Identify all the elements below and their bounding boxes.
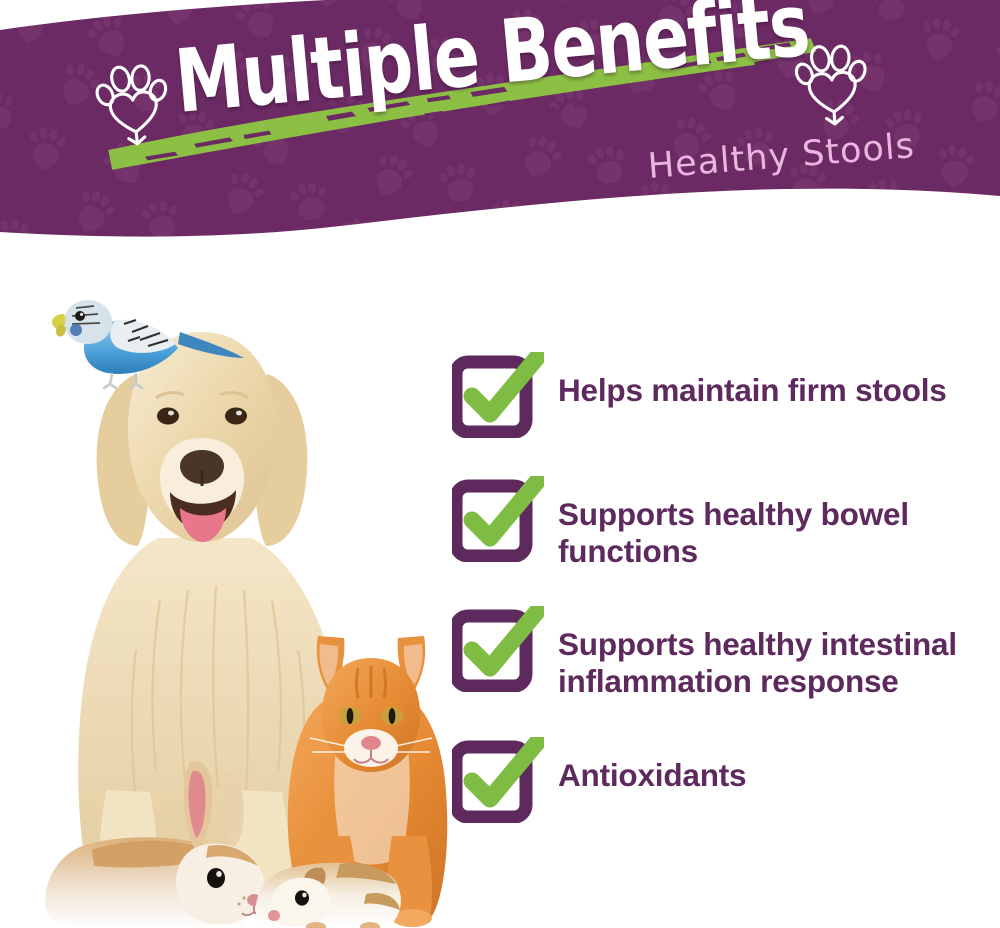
benefit-item: Helps maintain firm stools [452, 352, 992, 440]
benefit-item: Supports healthy bowel functions [452, 476, 992, 570]
benefit-label: Supports healthy bowel functions [558, 476, 992, 570]
benefit-label: Antioxidants [558, 737, 746, 794]
benefit-item: Antioxidants [452, 737, 992, 825]
checkbox-checked-icon [452, 606, 544, 692]
benefit-label: Supports healthy intestinal inflammation… [558, 606, 992, 700]
benefits-list: Helps maintain firm stools Supports heal… [452, 352, 992, 825]
pets-photo [40, 270, 460, 928]
benefit-item: Supports healthy intestinal inflammation… [452, 606, 992, 700]
header-banner: Multiple Benefits Healthy Stools [0, 0, 1000, 250]
paw-heart-icon [92, 54, 175, 149]
checkbox-checked-icon [452, 476, 544, 562]
checkbox-checked-icon [452, 352, 544, 438]
checkbox-checked-icon [452, 737, 544, 823]
benefit-label: Helps maintain firm stools [558, 352, 947, 409]
